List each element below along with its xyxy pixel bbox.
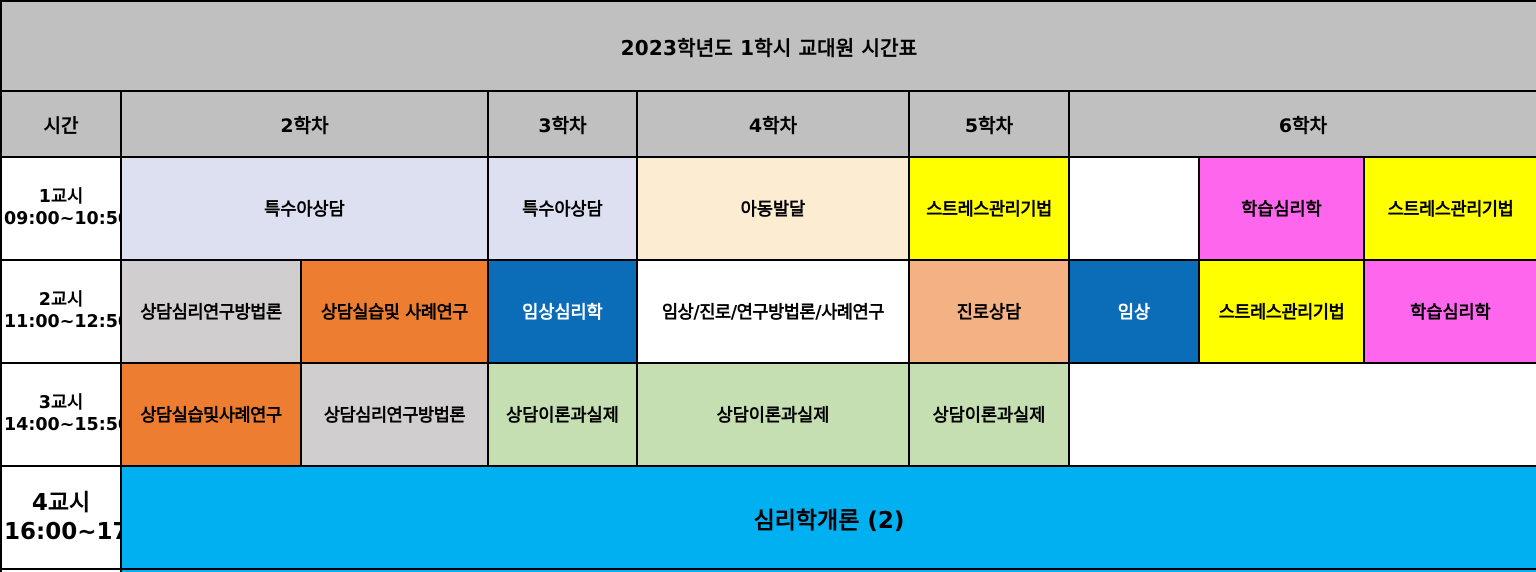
timetable-sheet: 2023학년도 1학시 교대원 시간표 시간 2학차 3학차 4학차 5학차 6… — [0, 0, 1536, 572]
period-row-3: 3교시 14:00~15:50 상담실습및사례연구 상담심리연구방법론 상담이론… — [1, 363, 1536, 466]
period-label-3: 3교시 14:00~15:50 — [1, 363, 121, 466]
class-cell[interactable]: 스트레스관리기법 — [909, 157, 1069, 260]
title-row: 2023학년도 1학시 교대원 시간표 — [1, 1, 1536, 91]
header-col-2: 2학차 — [121, 91, 488, 157]
period-time-1: 09:00~10:50 — [4, 209, 118, 231]
period-label-1: 1교시 09:00~10:50 — [1, 157, 121, 260]
period-row-2: 2교시 11:00~12:50 상담심리연구방법론 상담실습및 사례연구 임상심… — [1, 260, 1536, 363]
period-name-2: 2교시 — [4, 290, 118, 312]
header-time-label: 시간 — [1, 91, 121, 157]
period-time-2: 11:00~12:50 — [4, 312, 118, 334]
column-header-row: 시간 2학차 3학차 4학차 5학차 6학차 — [1, 91, 1536, 157]
class-cell[interactable]: 상담이론과실제 — [488, 363, 637, 466]
header-col-6: 6학차 — [1069, 91, 1536, 157]
class-cell[interactable]: 스트레스관리기법 — [1364, 157, 1536, 260]
period-label-4: 4교시 16:00~17:50 — [1, 466, 121, 569]
period-time-3: 14:00~15:50 — [4, 415, 118, 437]
class-cell[interactable]: 임상심리학 — [488, 260, 637, 363]
class-cell[interactable]: 상담심리연구방법론 — [301, 363, 488, 466]
period-name-3: 3교시 — [4, 393, 118, 415]
header-col-5: 5학차 — [909, 91, 1069, 157]
class-cell[interactable]: 특수아상담 — [488, 157, 637, 260]
period-name-4: 4교시 — [4, 489, 118, 518]
class-cell[interactable]: 임상 — [1069, 260, 1199, 363]
class-cell[interactable]: 상담이론과실제 — [909, 363, 1069, 466]
period-row-1: 1교시 09:00~10:50 특수아상담 특수아상담 아동발달 스트레스관리기… — [1, 157, 1536, 260]
class-cell[interactable]: 스트레스관리기법 — [1199, 260, 1364, 363]
class-cell[interactable]: 상담이론과실제 — [637, 363, 909, 466]
class-cell[interactable]: 상담심리연구방법론 — [121, 260, 301, 363]
header-col-3: 3학차 — [488, 91, 637, 157]
class-cell[interactable]: 심리학개론 (2) — [121, 466, 1536, 569]
class-cell-empty[interactable] — [1069, 363, 1536, 466]
class-cell[interactable]: 학습심리학 — [1364, 260, 1536, 363]
period-label-2: 2교시 11:00~12:50 — [1, 260, 121, 363]
period-row-4: 4교시 16:00~17:50 심리학개론 (2) — [1, 466, 1536, 569]
class-cell[interactable]: 특수아상담 — [121, 157, 488, 260]
class-cell[interactable]: 상담실습및 사례연구 — [301, 260, 488, 363]
class-cell-empty[interactable] — [1069, 157, 1199, 260]
period-name-1: 1교시 — [4, 187, 118, 209]
class-cell[interactable]: 학습심리학 — [1199, 157, 1364, 260]
class-cell[interactable]: 진로상담 — [909, 260, 1069, 363]
class-cell[interactable]: 임상/진로/연구방법론/사례연구 — [637, 260, 909, 363]
class-cell[interactable]: 아동발달 — [637, 157, 909, 260]
page-title: 2023학년도 1학시 교대원 시간표 — [1, 1, 1536, 91]
header-col-4: 4학차 — [637, 91, 909, 157]
class-cell[interactable]: 상담실습및사례연구 — [121, 363, 301, 466]
timetable: 2023학년도 1학시 교대원 시간표 시간 2학차 3학차 4학차 5학차 6… — [0, 0, 1536, 572]
period-time-4: 16:00~17:50 — [4, 518, 118, 547]
